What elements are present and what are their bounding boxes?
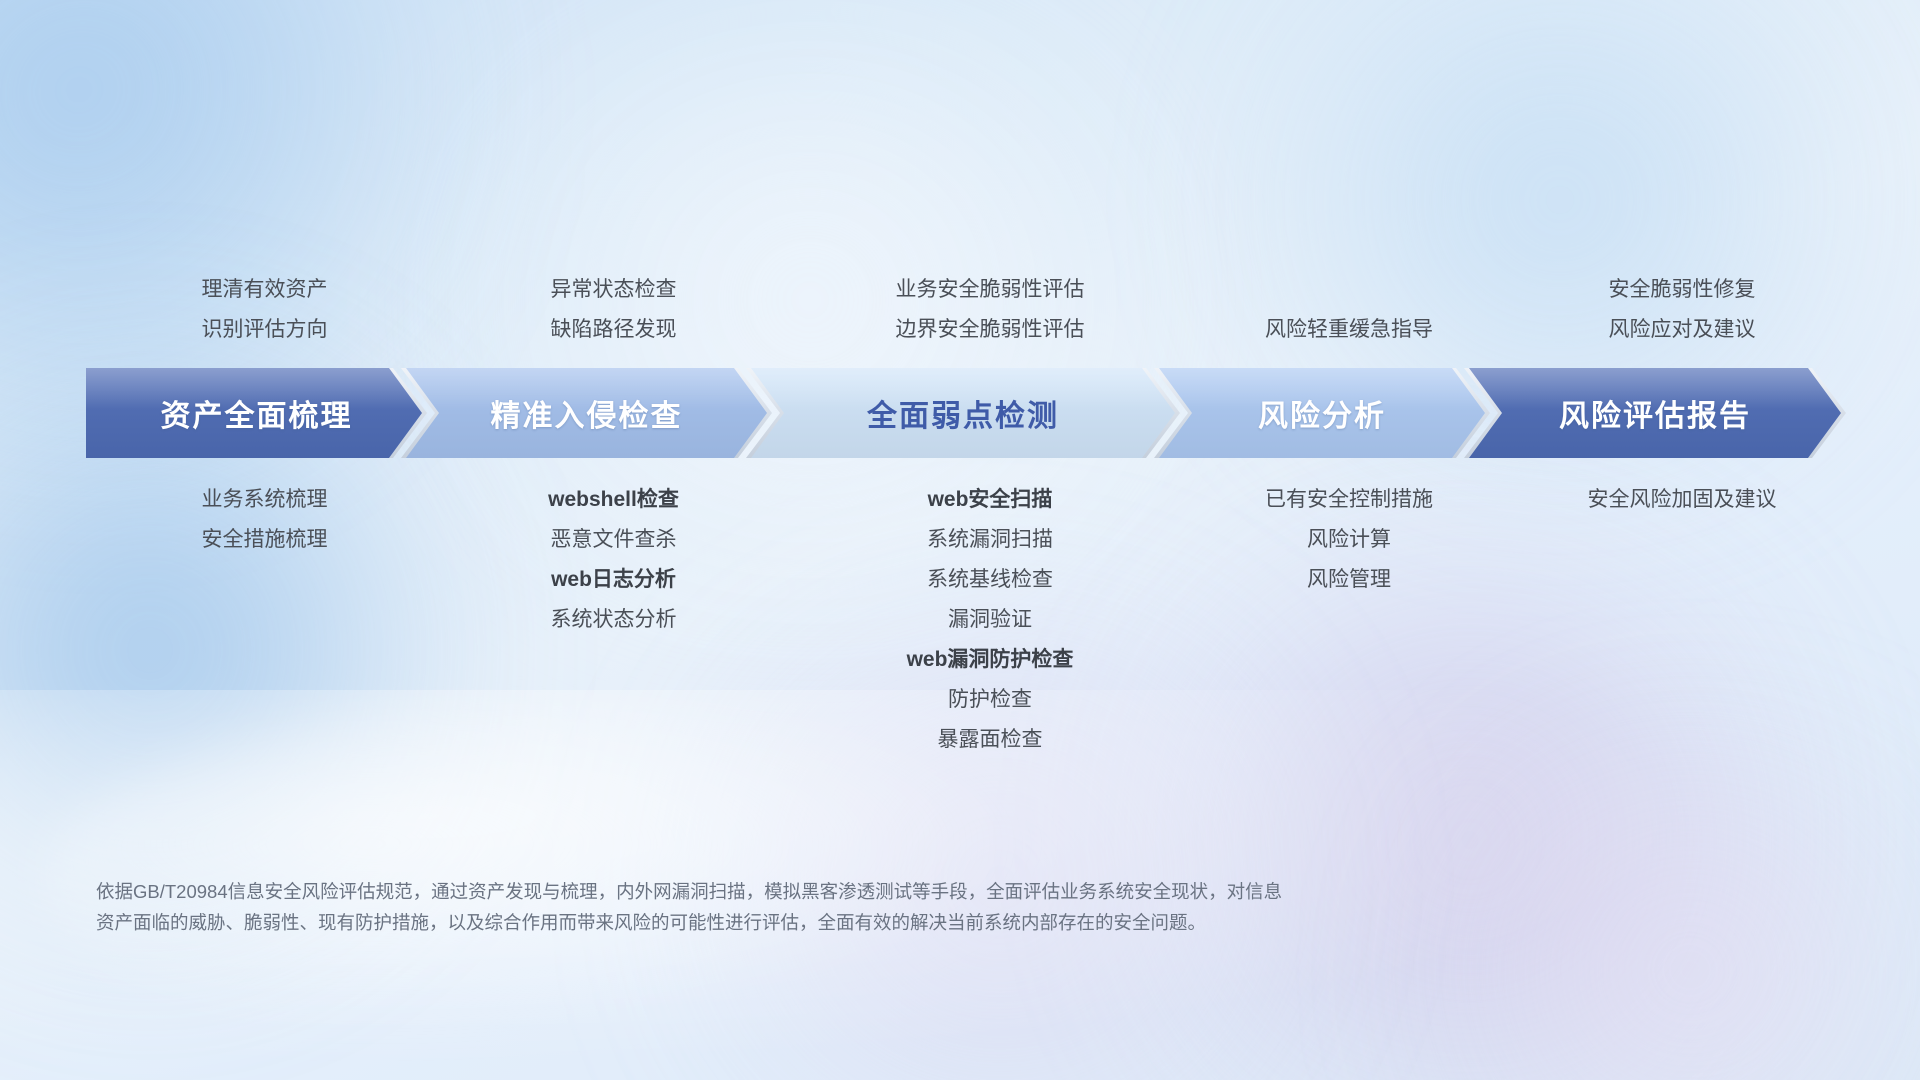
process-stage-asset-inventory[interactable]: 资产全面梳理 [86,368,427,458]
stage-title-intrusion-check: 精准入侵检查 [491,391,683,435]
stage-title-risk-analysis: 风险分析 [1258,391,1386,435]
bottom-item: 系统状态分析 [394,600,834,640]
bottom-item: 防护检查 [770,680,1210,720]
top-items-intrusion-check: 异常状态检查缺陷路径发现 [394,270,834,350]
footer-line-1: 依据GB/T20984信息安全风险评估规范，通过资产发现与梳理，内外网漏洞扫描，… [96,876,1656,907]
top-item: 异常状态检查 [394,270,834,310]
stage-title-assessment-report: 风险评估报告 [1559,391,1751,435]
bottom-item: 漏洞验证 [770,600,1210,640]
bottom-item: 恶意文件查杀 [394,520,834,560]
bottom-items-intrusion-check: webshell检查恶意文件查杀web日志分析系统状态分析 [394,480,834,640]
top-items-assessment-report: 安全脆弱性修复风险应对及建议 [1462,270,1902,350]
process-stage-weakness-detection[interactable]: 全面弱点检测 [746,368,1180,458]
top-item: 安全脆弱性修复 [1462,270,1902,310]
bottom-item: 风险计算 [1129,520,1569,560]
process-chevron-band: 资产全面梳理精准入侵检查全面弱点检测风险分析风险评估报告 [86,368,1846,458]
bottom-item: webshell检查 [394,480,834,520]
bottom-item: web漏洞防护检查 [770,640,1210,680]
process-stage-assessment-report[interactable]: 风险评估报告 [1464,368,1846,458]
top-item: 业务安全脆弱性评估 [770,270,1210,310]
stage-title-weakness-detection: 全面弱点检测 [867,391,1059,435]
footer-description: 依据GB/T20984信息安全风险评估规范，通过资产发现与梳理，内外网漏洞扫描，… [96,876,1656,938]
bottom-item: 安全风险加固及建议 [1462,480,1902,520]
process-stage-risk-analysis[interactable]: 风险分析 [1154,368,1490,458]
top-item: 风险应对及建议 [1462,310,1902,350]
footer-line-2: 资产面临的威胁、脆弱性、现有防护措施，以及综合作用而带来风险的可能性进行评估，全… [96,907,1656,938]
process-stage-intrusion-check[interactable]: 精准入侵检查 [401,368,772,458]
top-item: 缺陷路径发现 [394,310,834,350]
bottom-item: web日志分析 [394,560,834,600]
stage-title-asset-inventory: 资产全面梳理 [161,391,353,435]
bottom-item: 风险管理 [1129,560,1569,600]
bottom-items-assessment-report: 安全风险加固及建议 [1462,480,1902,520]
bottom-item: 暴露面检查 [770,720,1210,760]
